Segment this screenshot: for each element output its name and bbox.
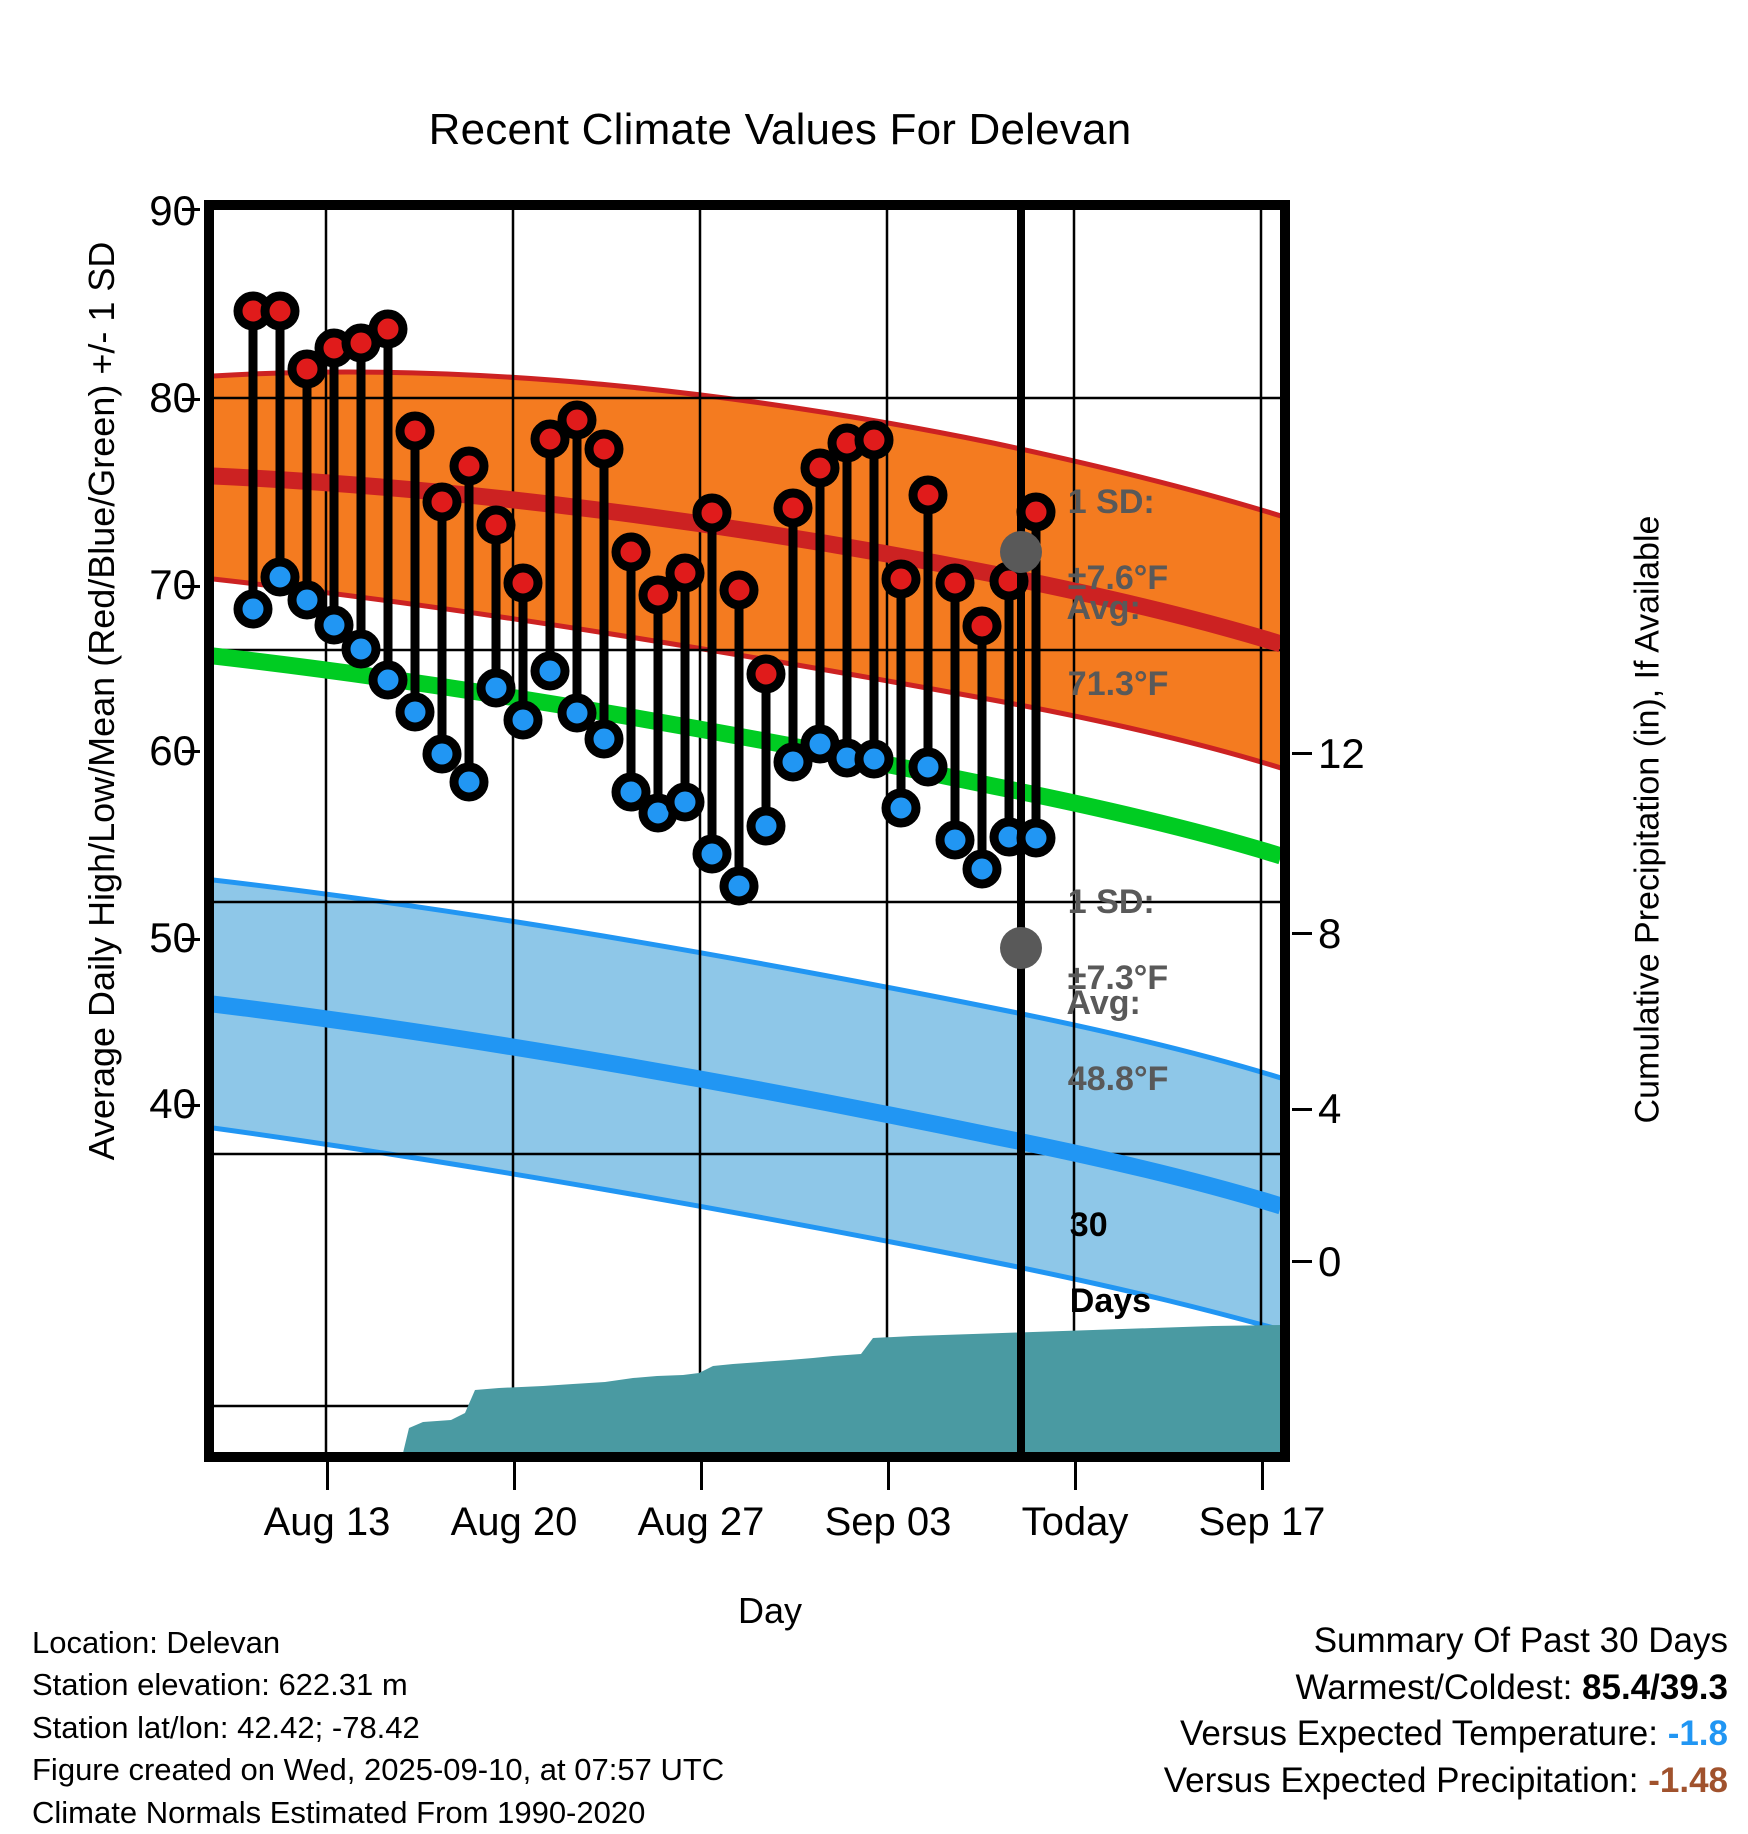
station-location: Location: Delevan bbox=[32, 1622, 724, 1664]
station-elevation: Station elevation: 622.31 m bbox=[32, 1664, 724, 1706]
low-sd-line1: 1 SD: bbox=[1068, 883, 1155, 921]
xtick-mark-aug27 bbox=[700, 1462, 703, 1490]
y-axis-label-right: Cumulative Precipitation (in), If Availa… bbox=[1629, 320, 1668, 1320]
ytick-left-70: 70 bbox=[0, 561, 196, 609]
ytick-right-4: 4 bbox=[1318, 1085, 1341, 1133]
ytick-right-0: 0 bbox=[1318, 1238, 1341, 1286]
xtick-mark-today bbox=[1074, 1462, 1077, 1490]
summary-block: Summary Of Past 30 Days Warmest/Coldest:… bbox=[1164, 1618, 1728, 1804]
xtick-mark-aug20 bbox=[513, 1462, 516, 1490]
summary-versus-precipitation: Versus Expected Precipitation: -1.48 bbox=[1164, 1758, 1728, 1805]
high-avg-annotation: Avg: 71.3°F bbox=[1030, 551, 1168, 741]
ytick-left-60: 60 bbox=[0, 727, 196, 775]
ytick-mark-right-12 bbox=[1292, 752, 1312, 755]
figure-created: Figure created on Wed, 2025-09-10, at 07… bbox=[32, 1749, 724, 1791]
low-avg-line1: Avg: bbox=[1067, 984, 1141, 1022]
ytick-mark-40 bbox=[182, 1104, 200, 1107]
ytick-mark-90 bbox=[182, 208, 200, 211]
days-line2: Days bbox=[1070, 1282, 1151, 1320]
ytick-mark-70 bbox=[182, 585, 200, 588]
xtick-label-sep17: Sep 17 bbox=[1142, 1500, 1382, 1545]
summary-versus-temperature: Versus Expected Temperature: -1.8 bbox=[1164, 1711, 1728, 1758]
ytick-left-40: 40 bbox=[0, 1080, 196, 1128]
ytick-mark-80 bbox=[182, 398, 200, 401]
ytick-mark-right-0 bbox=[1292, 1260, 1312, 1263]
xtick-mark-sep17 bbox=[1261, 1462, 1264, 1490]
vs-precip-value: -1.48 bbox=[1648, 1761, 1728, 1800]
ytick-left-90: 90 bbox=[0, 187, 196, 235]
ytick-left-80: 80 bbox=[0, 374, 196, 422]
ytick-right-12: 12 bbox=[1318, 730, 1365, 778]
vs-temp-value: -1.8 bbox=[1668, 1714, 1728, 1753]
high-avg-line2: 71.3°F bbox=[1068, 665, 1169, 703]
warmest-coldest-value: 85.4/39.3 bbox=[1582, 1668, 1728, 1707]
ytick-mark-right-4 bbox=[1292, 1108, 1312, 1111]
climate-figure: Recent Climate Values For Delevan Averag… bbox=[0, 0, 1748, 1828]
warmest-coldest-label: Warmest/Coldest: bbox=[1295, 1668, 1572, 1707]
high-sd-line1: 1 SD: bbox=[1068, 483, 1155, 521]
station-info-block: Location: Delevan Station elevation: 622… bbox=[32, 1622, 724, 1834]
ytick-right-8: 8 bbox=[1318, 910, 1341, 958]
high-avg-line1: Avg: bbox=[1067, 589, 1141, 627]
page-title: Recent Climate Values For Delevan bbox=[0, 105, 1560, 155]
vs-temp-label: Versus Expected Temperature: bbox=[1180, 1714, 1658, 1753]
days-line1: 30 bbox=[1070, 1206, 1108, 1244]
vs-precip-label: Versus Expected Precipitation: bbox=[1164, 1761, 1639, 1800]
ytick-mark-50 bbox=[182, 938, 200, 941]
low-avg-line2: 48.8°F bbox=[1068, 1060, 1169, 1098]
ytick-mark-60 bbox=[182, 750, 200, 753]
low-avg-annotation: Avg: 48.8°F bbox=[1030, 946, 1168, 1136]
ytick-left-50: 50 bbox=[0, 914, 196, 962]
summary-warmest-coldest: Warmest/Coldest: 85.4/39.3 bbox=[1164, 1665, 1728, 1712]
xtick-mark-sep03 bbox=[887, 1462, 890, 1490]
y-axis-label-left: Average Daily High/Low/Mean (Red/Blue/Gr… bbox=[81, 201, 123, 1201]
ytick-mark-right-8 bbox=[1292, 932, 1312, 935]
xtick-mark-aug13 bbox=[326, 1462, 329, 1490]
station-latlon: Station lat/lon: 42.42; -78.42 bbox=[32, 1707, 724, 1749]
thirty-days-annotation: 30 Days bbox=[1032, 1168, 1151, 1358]
summary-heading: Summary Of Past 30 Days bbox=[1164, 1618, 1728, 1665]
